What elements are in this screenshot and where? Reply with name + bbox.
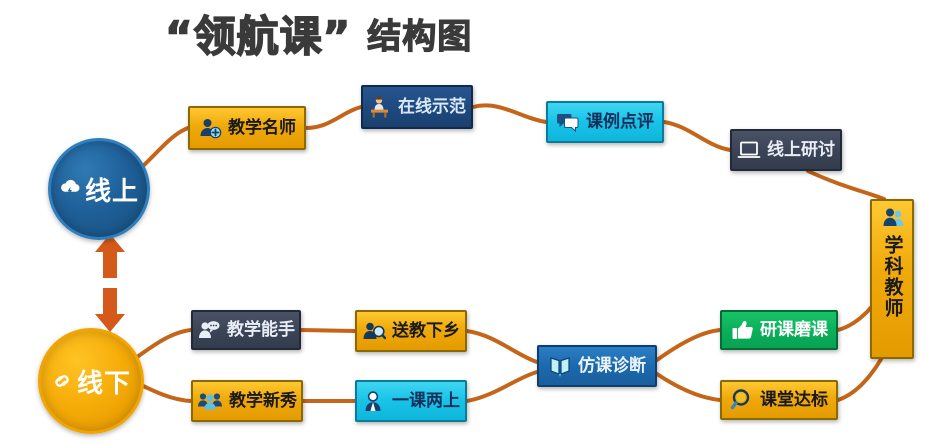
node-label: 研课磨课 [760, 322, 828, 339]
node-jiaoxue-mingshi[interactable]: 教学名师 [188, 106, 306, 150]
connector-xianshang-to-xueke [808, 171, 884, 199]
node-label: 一课两上 [392, 393, 460, 410]
open-book-icon [548, 354, 572, 378]
teacher-desk-icon [368, 95, 392, 119]
node-yike-liangshang[interactable]: 一课两上 [355, 380, 467, 422]
people-pair-icon [877, 207, 907, 233]
node-label: 课堂达标 [760, 392, 828, 409]
person-search-icon [362, 320, 386, 342]
node-yanke-moke[interactable]: 研课磨课 [720, 310, 838, 350]
node-jiaoxue-nengshou[interactable]: 教学能手 [191, 310, 301, 350]
connector-mingshi-to-zaixian [306, 107, 361, 128]
node-keli-dianping[interactable]: 课例点评 [546, 101, 664, 143]
connector-zaixian-to-keli [473, 105, 546, 122]
node-label: 教学能手 [227, 322, 295, 339]
node-label: 线上研讨 [767, 142, 835, 159]
cloud-lightning-icon [59, 179, 81, 199]
circle-online[interactable]: 线上 [48, 138, 150, 240]
node-fangke-zhenduan[interactable]: 仿课诊断 [537, 345, 657, 387]
node-songjiao-xiaxiang[interactable]: 送教下乡 [355, 310, 467, 352]
person-tie-icon [362, 390, 386, 412]
node-label: 在线示范 [398, 99, 466, 116]
thumbs-up-icon [730, 319, 754, 341]
connector-yike-to-fangke [467, 372, 537, 401]
double-headed-arrow [95, 234, 125, 332]
arrow-up-head [95, 234, 125, 278]
node-ketang-dabiao[interactable]: 课堂达标 [720, 380, 838, 420]
diagram-canvas: “领航课” 结构图 [0, 0, 948, 444]
circle-offline-label: 线下 [77, 363, 131, 400]
connector-fangke-to-yanke [657, 330, 720, 360]
node-zaixian-shifan[interactable]: 在线示范 [361, 85, 473, 129]
node-label: 教学新秀 [229, 393, 297, 410]
link-icon [51, 371, 73, 391]
person-plus-icon [198, 116, 222, 140]
connector-keli-to-xianshang [664, 122, 730, 150]
node-jiaoxue-xinxiu[interactable]: 教学新秀 [191, 380, 303, 422]
node-label: 送教下乡 [392, 323, 460, 340]
node-label: 学科教师 [883, 235, 902, 319]
person-chat-icon [197, 319, 221, 341]
node-label: 仿课诊断 [578, 358, 646, 375]
circle-offline[interactable]: 线下 [38, 328, 144, 434]
connector-nengshou-to-songjiao [301, 330, 355, 331]
magnifier-icon [730, 388, 754, 412]
circle-online-label: 线上 [85, 171, 139, 208]
laptop-icon [737, 139, 761, 161]
node-xueke-jiaoshi[interactable]: 学科教师 [870, 199, 914, 359]
node-label: 教学名师 [228, 120, 296, 137]
connector-songjiao-to-fangke [467, 331, 537, 362]
connector-offline-to-nengshou [133, 330, 191, 360]
connector-fangke-to-dabiao [657, 374, 720, 400]
speech-bubble-icon [556, 111, 580, 133]
people-group-icon [197, 390, 223, 412]
arrow-down-head [95, 288, 125, 332]
node-label: 课例点评 [586, 114, 654, 131]
connector-online-to-mingshi [141, 128, 188, 168]
node-xianshang-yantao[interactable]: 线上研讨 [730, 129, 842, 171]
